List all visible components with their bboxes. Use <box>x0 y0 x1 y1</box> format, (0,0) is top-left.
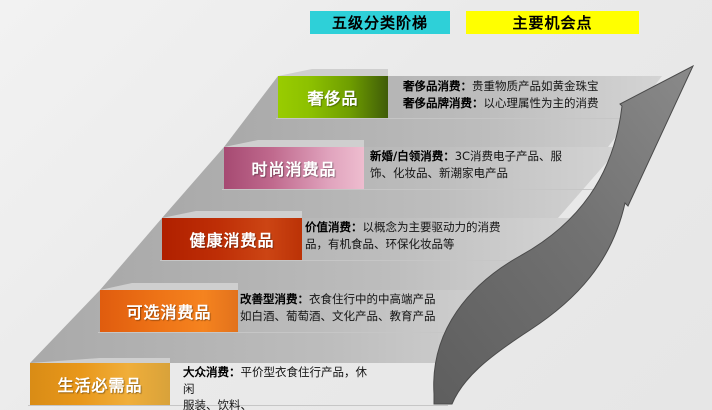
step-box-level-1[interactable]: 生活必需品 <box>30 363 170 405</box>
opportunity-body-level-5: 贵重物质产品如黄金珠宝 <box>472 79 599 93</box>
step-label-level-3: 健康消费品 <box>189 227 274 251</box>
step-label-level-5: 奢侈品 <box>307 85 358 109</box>
opportunity-body2-level-2: 如白酒、葡萄酒、文化产品、教育产品 <box>240 308 470 325</box>
opportunity-body-level-3: 以概念为主要驱动力的消费 <box>363 220 501 234</box>
opportunity-body-level-2: 衣食住行中的中高端产品 <box>309 292 436 306</box>
opportunity-text-level-4: 新婚/白领消费：3C消费电子产品、服 饰、化妆品、新潮家电产品 <box>370 148 570 181</box>
opportunity-body3-level-5: 以心理属性为主的消费 <box>484 96 599 110</box>
step-box-level-5[interactable]: 奢侈品 <box>278 76 388 118</box>
staircase-graphic <box>0 0 712 410</box>
opportunity-title-level-4: 新婚/白领消费： <box>370 149 455 163</box>
opportunity-title-level-2: 改善型消费： <box>240 292 309 306</box>
step-box-level-2[interactable]: 可选消费品 <box>100 290 238 332</box>
slide-canvas: 五级分类阶梯 主要机会点 生活必需品 可选消费品 健康消费品 时尚消费品 奢侈品… <box>0 0 712 410</box>
step-label-level-1: 生活必需品 <box>57 372 142 396</box>
step-box-level-3[interactable]: 健康消费品 <box>162 218 302 260</box>
opportunity-text-level-2: 改善型消费：衣食住行中的中高端产品 如白酒、葡萄酒、文化产品、教育产品 <box>240 291 470 324</box>
opportunity-body-level-4: 3C消费电子产品、服 <box>455 149 562 163</box>
opportunity-title-level-3: 价值消费： <box>305 220 363 234</box>
opportunity-body2-level-1: 服装、饮料、 <box>183 397 368 410</box>
step-box-level-4[interactable]: 时尚消费品 <box>224 147 364 189</box>
opportunity-text-level-1: 大众消费：平价型衣食住行产品，休闲 服装、饮料、 <box>183 364 368 410</box>
legend-chip-ladder: 五级分类阶梯 <box>310 11 450 34</box>
step-label-level-4: 时尚消费品 <box>251 156 336 180</box>
step-label-level-2: 可选消费品 <box>126 299 211 323</box>
opportunity-title-level-5: 奢侈品消费： <box>403 79 472 93</box>
opportunity-body2-level-3: 品，有机食品、环保化妆品等 <box>305 236 520 253</box>
opportunity-title-level-1: 大众消费： <box>183 365 241 379</box>
opportunity-title2-level-5: 奢侈品牌消费： <box>403 96 484 110</box>
opportunity-body2-level-4: 饰、化妆品、新潮家电产品 <box>370 165 570 182</box>
legend-chip-opportunity: 主要机会点 <box>466 11 639 34</box>
opportunity-text-level-5: 奢侈品消费：贵重物质产品如黄金珠宝 奢侈品牌消费：以心理属性为主的消费 <box>403 78 663 111</box>
opportunity-text-level-3: 价值消费：以概念为主要驱动力的消费 品，有机食品、环保化妆品等 <box>305 219 520 252</box>
